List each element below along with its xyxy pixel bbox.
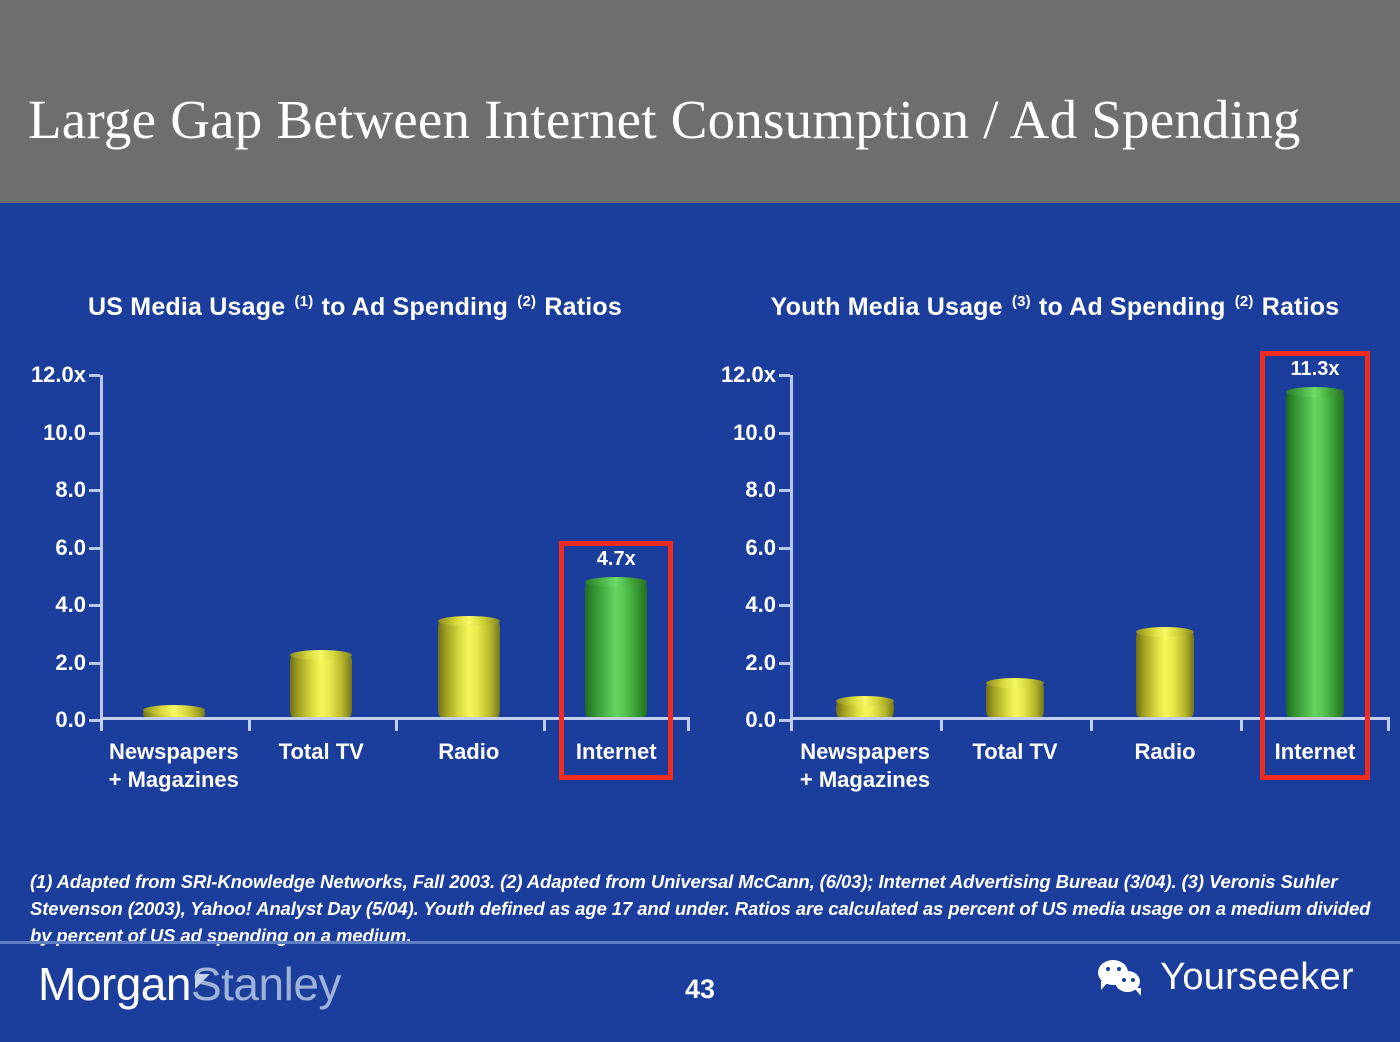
bar-radio [438, 621, 500, 717]
page-title: Large Gap Between Internet Consumption /… [28, 88, 1378, 152]
y-axis-label: 6.0 [55, 535, 86, 561]
chart-title-footnote-ref-1: (1) [292, 293, 314, 310]
wechat-icon [1098, 958, 1148, 998]
bar-total-tv [290, 655, 352, 717]
x-axis-category-label: Radio [1134, 738, 1195, 766]
chart-panel-us-media-usage: US Media Usage (1) to Ad Spending (2) Ra… [0, 203, 710, 823]
watermark: Yourseeker [1098, 956, 1354, 999]
chart-panel-youth-media-usage: Youth Media Usage (3) to Ad Spending (2)… [710, 203, 1400, 823]
x-axis-tick [395, 720, 398, 731]
bar-internet [1286, 392, 1344, 717]
chart-title-footnote-ref-2: (2) [1233, 293, 1255, 310]
plot-area-us-media-usage: 0.02.04.06.08.010.012.0xNewspapers+ Maga… [100, 375, 690, 720]
y-axis-label: 12.0x [31, 362, 86, 388]
y-axis-tick [89, 662, 100, 665]
chart-title-text-c: Ratios [537, 293, 622, 321]
y-axis-label: 12.0x [721, 362, 776, 388]
chart-title-footnote-ref-2: (2) [515, 293, 537, 310]
chart-title-youth-media-usage: Youth Media Usage (3) to Ad Spending (2)… [710, 289, 1400, 325]
y-axis-tick [89, 604, 100, 607]
y-axis-label: 2.0 [55, 650, 86, 676]
chart-title-text-a: US Media Usage [88, 293, 292, 321]
x-axis-tick [248, 720, 251, 731]
y-axis-label: 10.0 [43, 420, 86, 446]
y-axis-tick [779, 547, 790, 550]
bar-newspapers-magazines [836, 701, 894, 717]
chart-title-text-c: Ratios [1255, 293, 1340, 321]
y-axis-tick [779, 489, 790, 492]
bar-newspapers-magazines [143, 710, 205, 717]
x-axis-category-label: Newspapers+ Magazines [109, 738, 239, 794]
chart-title-footnote-ref-3: (3) [1010, 293, 1032, 310]
watermark-label: Yourseeker [1160, 956, 1354, 999]
x-axis-category-label: Total TV [972, 738, 1057, 766]
y-axis-tick [779, 432, 790, 435]
x-axis-tick [687, 720, 690, 731]
y-axis-tick [89, 374, 100, 377]
y-axis-tick [779, 662, 790, 665]
y-axis-label: 2.0 [745, 650, 776, 676]
x-axis-tick [1387, 720, 1390, 731]
x-axis-tick [790, 720, 793, 731]
y-axis-tick [779, 374, 790, 377]
y-axis-label: 4.0 [55, 592, 86, 618]
chart-title-text-b: to Ad Spending [314, 293, 515, 321]
bar-internet [585, 582, 647, 717]
bar-radio [1136, 632, 1194, 717]
x-axis-category-label: Internet [1275, 738, 1356, 766]
footnotes: (1) Adapted from SRI-Knowledge Networks,… [30, 868, 1375, 949]
x-axis-category-label: Radio [438, 738, 499, 766]
y-axis-tick [89, 489, 100, 492]
chart-title-us-media-usage: US Media Usage (1) to Ad Spending (2) Ra… [0, 289, 710, 325]
chart-title-text-b: to Ad Spending [1032, 293, 1233, 321]
y-axis-tick [779, 604, 790, 607]
bar-total-tv [986, 683, 1044, 718]
y-axis-label: 10.0 [733, 420, 776, 446]
y-axis-label: 4.0 [745, 592, 776, 618]
y-axis-label: 0.0 [745, 707, 776, 733]
y-axis-tick [89, 432, 100, 435]
y-axis-tick [779, 719, 790, 722]
x-axis-tick [940, 720, 943, 731]
y-axis-label: 8.0 [55, 477, 86, 503]
y-axis-label: 8.0 [745, 477, 776, 503]
y-axis-label: 0.0 [55, 707, 86, 733]
x-axis-tick [1240, 720, 1243, 731]
y-axis-line [790, 375, 793, 720]
bar-value-label: 4.7x [597, 548, 636, 571]
x-axis-tick [100, 720, 103, 731]
y-axis-line [100, 375, 103, 720]
slide: Large Gap Between Internet Consumption /… [0, 0, 1400, 1042]
x-axis-category-label: Internet [576, 738, 657, 766]
x-axis-category-label: Total TV [279, 738, 364, 766]
slide-footer: MorganStanley 43 Yourseeker [0, 944, 1400, 1042]
y-axis-label: 6.0 [745, 535, 776, 561]
x-axis-tick [543, 720, 546, 731]
x-axis-tick [1090, 720, 1093, 731]
y-axis-tick [89, 547, 100, 550]
x-axis-category-label: Newspapers+ Magazines [800, 738, 930, 794]
chart-title-text-a: Youth Media Usage [771, 293, 1010, 321]
plot-area-youth-media-usage: 0.02.04.06.08.010.012.0xNewspapers+ Maga… [790, 375, 1390, 720]
bar-value-label: 11.3x [1291, 358, 1340, 381]
y-axis-tick [89, 719, 100, 722]
